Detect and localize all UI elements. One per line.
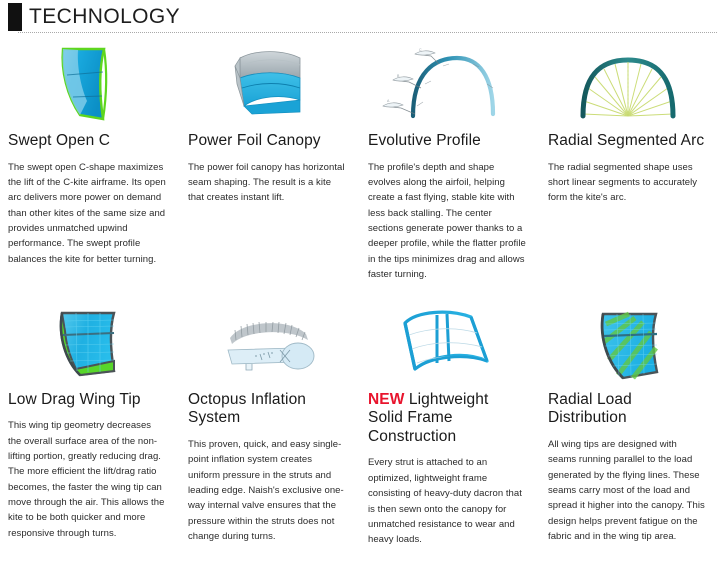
card-body: The swept open C-shape maximizes the lif… (8, 160, 166, 268)
page-title: TECHNOLOGY (29, 6, 180, 29)
tech-card-lightweight-solid-frame: NEW Lightweight Solid Frame Construction… (360, 295, 540, 548)
card-body: The radial segmented shape uses short li… (548, 160, 707, 206)
card-title: Octopus Inflation System (188, 391, 346, 428)
technology-row-1: Swept Open C The swept open C-shape maxi… (0, 34, 721, 283)
card-title: Swept Open C (8, 132, 166, 151)
lightweight-solid-frame-icon (368, 301, 526, 387)
tech-card-low-drag-wing-tip: Low Drag Wing Tip This wing tip geometry… (0, 295, 180, 542)
card-title: Power Foil Canopy (188, 132, 346, 151)
octopus-inflation-system-icon (188, 301, 346, 387)
radial-segmented-arc-icon (548, 40, 707, 128)
svg-text:C: C (419, 48, 422, 52)
low-drag-wing-tip-icon (8, 301, 166, 387)
card-body: The profile's depth and shape evolves al… (368, 160, 526, 283)
card-title: Evolutive Profile (368, 132, 526, 151)
card-body: This wing tip geometry decreases the ove… (8, 418, 166, 541)
technology-grid: Swept Open C The swept open C-shape maxi… (0, 34, 721, 548)
svg-text:A: A (387, 99, 390, 103)
tech-card-radial-load-distribution: Radial Load Distribution All wing tips a… (540, 295, 721, 545)
card-body: The power foil canopy has horizontal sea… (188, 160, 346, 206)
evolutive-profile-arc-icon: ABC (368, 40, 526, 128)
tech-card-power-foil-canopy: Power Foil Canopy The power foil canopy … (180, 34, 360, 206)
tech-card-evolutive-profile: ABC Evolutive Profile The profile's dept… (360, 34, 540, 283)
card-body: All wing tips are designed with seams ru… (548, 437, 707, 545)
card-title: Low Drag Wing Tip (8, 391, 166, 410)
new-badge: NEW (368, 391, 404, 408)
card-body: Every strut is attached to an optimized,… (368, 455, 526, 547)
technology-row-2: Low Drag Wing Tip This wing tip geometry… (0, 295, 721, 548)
tech-card-swept-open-c: Swept Open C The swept open C-shape maxi… (0, 34, 180, 267)
page-header: TECHNOLOGY (0, 0, 721, 34)
header-accent-bar (8, 3, 22, 31)
card-title: NEW Lightweight Solid Frame Construction (368, 391, 526, 447)
header-divider (18, 32, 717, 33)
radial-load-distribution-icon (548, 301, 707, 387)
tech-card-octopus-inflation-system: Octopus Inflation System This proven, qu… (180, 295, 360, 545)
card-body: This proven, quick, and easy single-poin… (188, 437, 346, 545)
power-foil-canopy-icon (188, 40, 346, 128)
card-title: Radial Load Distribution (548, 391, 707, 428)
tech-card-radial-segmented-arc: Radial Segmented Arc The radial segmente… (540, 34, 721, 206)
swept-open-c-kite-icon (8, 40, 166, 128)
card-title: Radial Segmented Arc (548, 132, 707, 151)
